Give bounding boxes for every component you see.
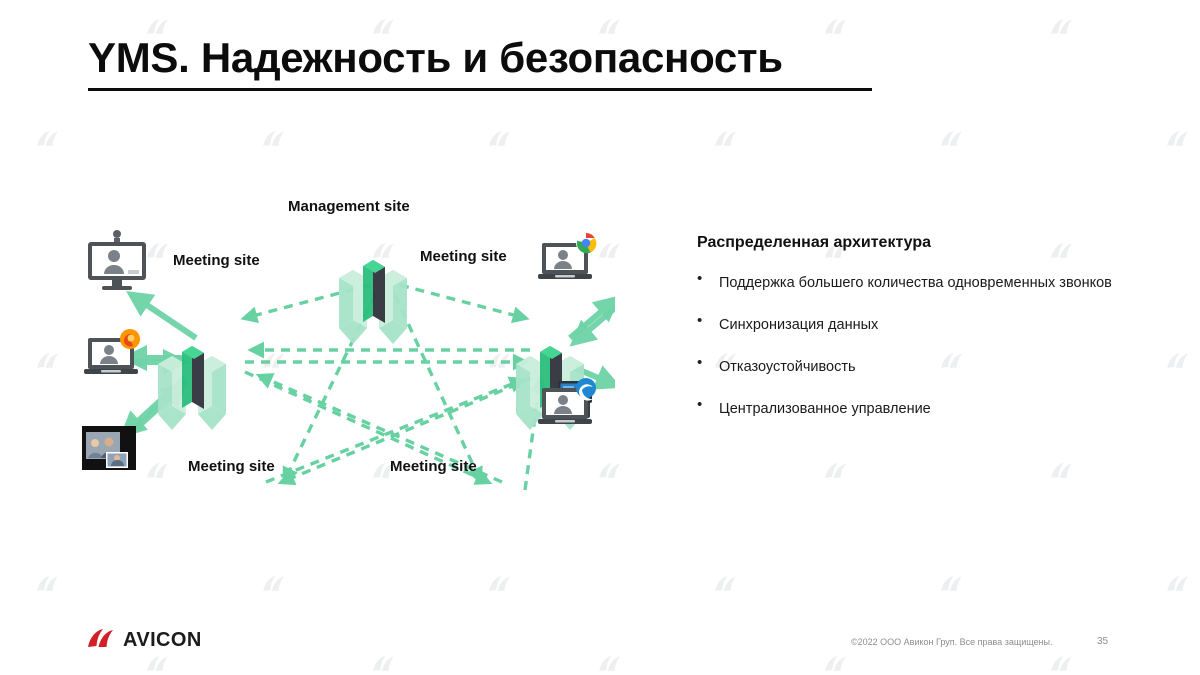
avicon-watermark-icon [939, 575, 965, 595]
label-management-site: Management site [288, 198, 410, 215]
avicon-watermark-icon [487, 575, 513, 595]
bullet-dot-icon: • [697, 394, 719, 416]
avicon-watermark-icon [1165, 575, 1191, 595]
avicon-watermark-icon [823, 18, 849, 38]
avicon-watermark-icon [713, 575, 739, 595]
avicon-watermark-icon [597, 655, 623, 675]
title-underline [88, 88, 872, 91]
avicon-watermark-icon [1049, 462, 1075, 482]
firefox-icon [120, 329, 140, 349]
avicon-watermark-icon [145, 655, 171, 675]
avicon-watermark-icon [823, 655, 849, 675]
avicon-watermark-icon [1165, 352, 1191, 372]
bullet-text: Отказоустойчивость [719, 352, 856, 383]
list-item: • Централизованное управление [697, 394, 1147, 425]
avicon-mark-icon [86, 628, 116, 652]
label-meeting-site-right-bottom: Meeting site [390, 458, 477, 475]
avicon-watermark-icon [35, 352, 61, 372]
bullet-dot-icon: • [697, 352, 719, 374]
bullet-dot-icon: • [697, 310, 719, 332]
arrow-to-laptop-chrome [570, 300, 615, 338]
architecture-diagram: Management site Meeting site Meeting sit… [70, 190, 615, 490]
avicon-wordmark: AVICON [123, 629, 202, 652]
copyright-text: ©2022 ООО Авикон Груп. Все права защищен… [851, 637, 1053, 647]
node-meeting-left-top [158, 346, 226, 430]
bullet-dot-icon: • [697, 268, 719, 290]
avicon-watermark-icon [1049, 655, 1075, 675]
list-item: • Поддержка большего количества одноврем… [697, 268, 1147, 299]
label-meeting-site-right-top: Meeting site [420, 248, 507, 265]
avicon-watermark-icon [261, 130, 287, 150]
avicon-watermark-icon [823, 462, 849, 482]
diagram-canvas [70, 190, 615, 490]
avicon-watermark-icon [371, 655, 397, 675]
bullet-text: Поддержка большего количества одновремен… [719, 268, 1112, 299]
avicon-watermark-icon [1165, 130, 1191, 150]
content-column: Распределенная архитектура • Поддержка б… [697, 234, 1147, 436]
video-thumbnail-icon [82, 426, 136, 470]
label-meeting-site-left-top: Meeting site [173, 252, 260, 269]
list-item: • Синхронизация данных [697, 310, 1147, 341]
avicon-watermark-icon [35, 575, 61, 595]
avicon-watermark-icon [939, 130, 965, 150]
slide-canvas: YMS. Надежность и безопасность [0, 0, 1200, 675]
avicon-watermark-icon [1049, 18, 1075, 38]
avicon-watermark-icon [35, 130, 61, 150]
desktop-monitor-icon [88, 230, 146, 290]
node-management [339, 260, 407, 344]
bullet-text: Централизованное управление [719, 394, 931, 425]
page-number: 35 [1097, 636, 1108, 647]
page-title-block: YMS. Надежность и безопасность [88, 36, 783, 80]
laptop-chrome-icon [538, 233, 596, 279]
bullet-text: Синхронизация данных [719, 310, 878, 341]
label-meeting-site-left-bottom: Meeting site [188, 458, 275, 475]
link-mgmt-to-right-top [400, 285, 525, 318]
avicon-watermark-icon [261, 575, 287, 595]
arrow-to-desktop-monitor [132, 295, 196, 338]
page-title: YMS. Надежность и безопасность [88, 36, 783, 80]
list-item: • Отказоустойчивость [697, 352, 1147, 383]
avicon-watermark-icon [487, 130, 513, 150]
content-heading: Распределенная архитектура [697, 234, 1147, 252]
laptop-firefox-icon [84, 329, 140, 374]
avicon-watermark-icon [713, 130, 739, 150]
avicon-logo: AVICON [86, 628, 202, 652]
